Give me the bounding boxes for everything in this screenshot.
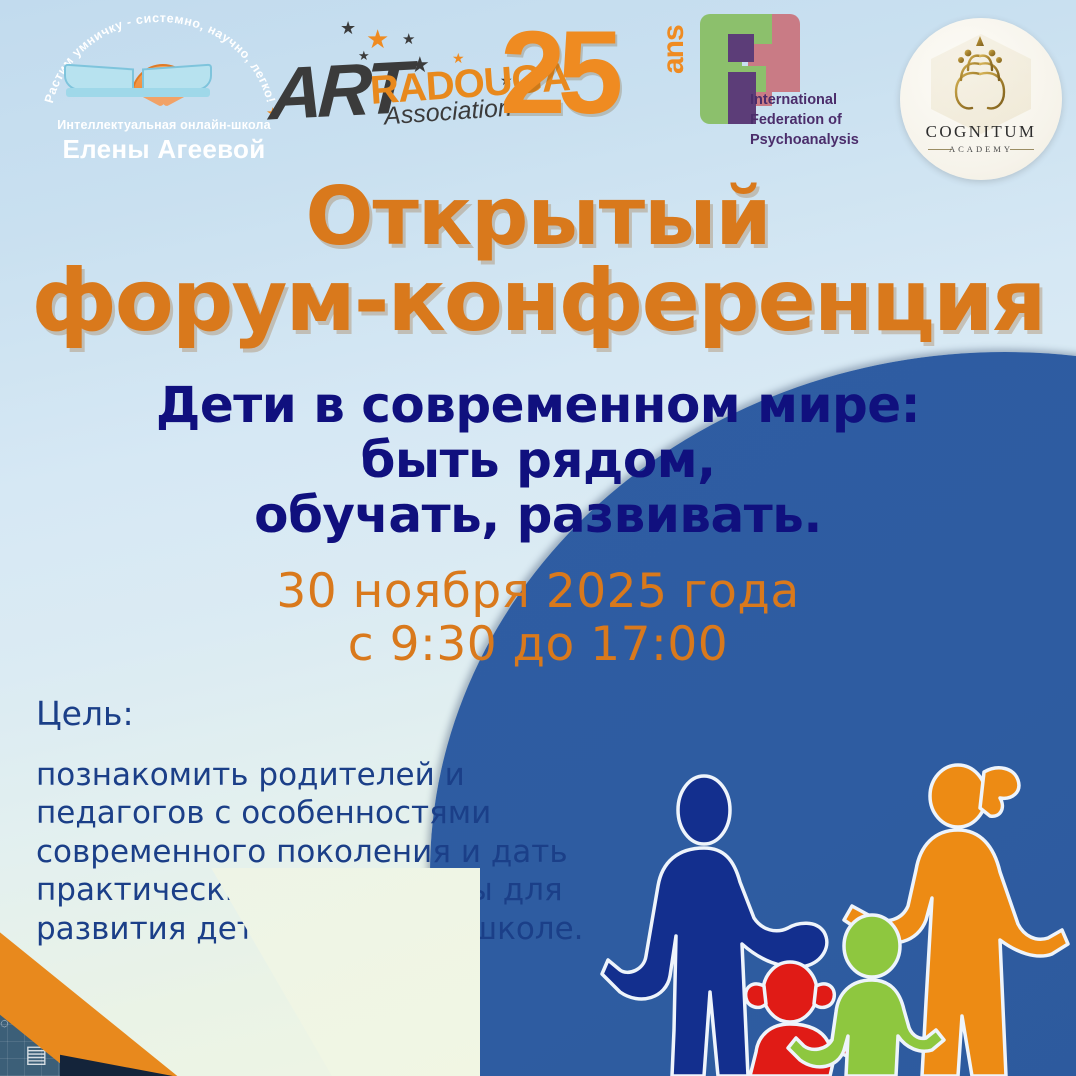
art-radouga-association-logo: ★ ★ ★ ★ ★ ★ ★ ★ ART RADOUGA Association … [262,8,652,158]
node-graph-icon: ⁂ [85,960,101,980]
subtitle-line-1: Дети в современном мире: [0,378,1076,433]
poster-subtitle: Дети в современном мире: быть рядом, обу… [0,378,1076,543]
poster-headline: Открытый форум-конференция [0,176,1076,345]
neural-tree-icon [930,30,1030,126]
paper-plane-icon: ✈ [134,996,180,1050]
anniversary-number: 25 [500,14,615,132]
ifp-line-3: Psychoanalysis [750,130,890,150]
ageeva-subtitle: Интеллектуальная онлайн-школа [38,118,290,132]
event-date: 30 ноября 2025 года [0,566,1076,619]
cognitum-academy-logo: COGNITUM ACADEMY [900,18,1062,180]
ageeva-title: Елены Агеевой [38,134,290,165]
ageeva-online-school-logo: Растим умничку - системно, научно, легко… [38,8,290,176]
ifp-line-2: Federation of [750,110,890,130]
headline-line-2: форум-конференция [0,258,1076,346]
subtitle-line-3: обучать, развивать. [0,488,1076,543]
anniversary-unit: ans [657,25,691,74]
event-date-block: 30 ноября 2025 года с 9:30 до 17:00 [0,566,1076,671]
open-book-icon [64,66,212,100]
logo-row: Растим умничку - системно, научно, легко… [0,0,1076,178]
goal-label: Цель: [36,694,134,733]
ifp-line-1: International [750,90,890,110]
cognitum-subtitle: ACADEMY [900,144,1062,154]
ifp-name-block: International Federation of Psychoanalys… [750,90,890,150]
event-time: с 9:30 до 17:00 [0,619,1076,672]
headline-line-1: Открытый [0,176,1076,258]
star-icon: ★ [340,18,356,39]
cognitum-title: COGNITUM [900,122,1062,142]
subtitle-line-2: быть рядом, [0,433,1076,488]
international-federation-of-psychoanalysis-logo: International Federation of Psychoanalys… [690,10,885,160]
poster-canvas: Растим умничку - системно, научно, легко… [0,0,1076,1076]
family-silhouettes [600,730,1076,1076]
